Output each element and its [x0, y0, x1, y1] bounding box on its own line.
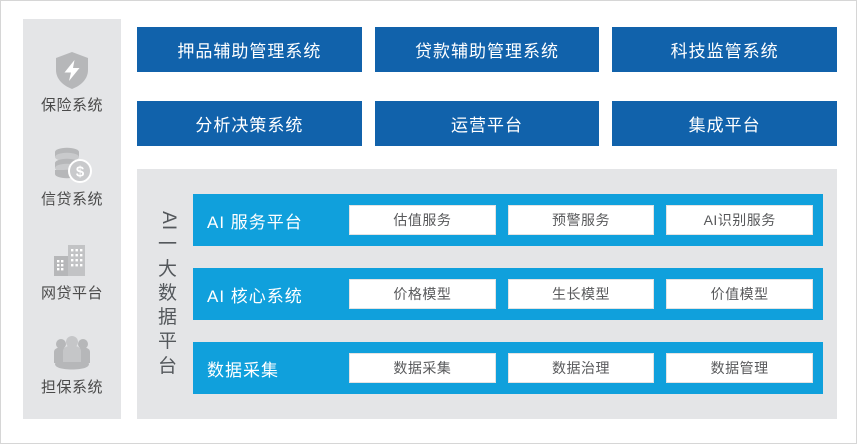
system-bar-row-1: 押品辅助管理系统 贷款辅助管理系统 科技监管系统	[137, 27, 837, 72]
sidebar-item-credit[interactable]: $ 信贷系统	[23, 127, 121, 221]
system-bar-label: 集成平台	[689, 111, 761, 136]
ai-bigdata-platform-panel: AI 一 大 数 据 平 台 AI 服务平台 估值服务 预警服务 AI识别服务 …	[137, 169, 837, 419]
svg-text:$: $	[76, 164, 85, 181]
platform-title-char: 数	[158, 282, 178, 306]
platform-title-char: 据	[158, 306, 178, 330]
platform-row-ai-service: AI 服务平台 估值服务 预警服务 AI识别服务	[193, 194, 823, 246]
platform-row-label: 数据采集	[207, 356, 349, 381]
buildings-icon	[49, 235, 95, 281]
system-bar-label: 贷款辅助管理系统	[415, 37, 559, 62]
sidebar-item-label: 信贷系统	[41, 192, 103, 207]
platform-title-char: 平	[158, 330, 178, 354]
platform-row-data-collection: 数据采集 数据采集 数据治理 数据管理	[193, 342, 823, 394]
platform-title-ai: AI	[156, 211, 180, 231]
platform-row-label: AI 核心系统	[207, 282, 349, 307]
shield-bolt-icon	[49, 47, 95, 93]
platform-cell-ai-recognition-service[interactable]: AI识别服务	[666, 205, 813, 235]
system-bar-collateral-management[interactable]: 押品辅助管理系统	[137, 27, 362, 72]
platform-row-cells: 数据采集 数据治理 数据管理	[349, 353, 813, 383]
system-bar-row-2: 分析决策系统 运营平台 集成平台	[137, 101, 837, 146]
architecture-diagram: 保险系统 $ 信贷系统	[0, 0, 857, 444]
platform-title-char: 台	[158, 355, 178, 379]
system-bar-label: 分析决策系统	[195, 111, 303, 136]
platform-rows: AI 服务平台 估值服务 预警服务 AI识别服务 AI 核心系统 价格模型 生长…	[193, 169, 837, 419]
coins-dollar-icon: $	[49, 141, 95, 187]
platform-cell-data-management[interactable]: 数据管理	[666, 353, 813, 383]
platform-cell-price-model[interactable]: 价格模型	[349, 279, 496, 309]
platform-row-cells: 估值服务 预警服务 AI识别服务	[349, 205, 813, 235]
sidebar-item-label: 担保系统	[41, 380, 103, 395]
sidebar-item-online-lending[interactable]: 网贷平台	[23, 221, 121, 315]
system-bar-tech-supervision[interactable]: 科技监管系统	[612, 27, 837, 72]
platform-cell-data-governance[interactable]: 数据治理	[508, 353, 655, 383]
sidebar-item-label: 保险系统	[41, 98, 103, 113]
platform-title-char: 一	[158, 233, 178, 257]
platform-cell-data-collection[interactable]: 数据采集	[349, 353, 496, 383]
system-bar-label: 运营平台	[451, 111, 523, 136]
platform-row-ai-core: AI 核心系统 价格模型 生长模型 价值模型	[193, 268, 823, 320]
people-group-icon	[49, 329, 95, 375]
platform-cell-value-model[interactable]: 价值模型	[666, 279, 813, 309]
platform-cell-valuation-service[interactable]: 估值服务	[349, 205, 496, 235]
sidebar: 保险系统 $ 信贷系统	[23, 19, 121, 419]
system-bar-analysis-decision[interactable]: 分析决策系统	[137, 101, 362, 146]
system-bar-label: 科技监管系统	[671, 37, 779, 62]
platform-row-cells: 价格模型 生长模型 价值模型	[349, 279, 813, 309]
system-bar-integration-platform[interactable]: 集成平台	[612, 101, 837, 146]
system-bar-loan-management[interactable]: 贷款辅助管理系统	[375, 27, 600, 72]
system-bar-label: 押品辅助管理系统	[177, 37, 321, 62]
platform-cell-alert-service[interactable]: 预警服务	[508, 205, 655, 235]
sidebar-item-guarantee[interactable]: 担保系统	[23, 315, 121, 409]
platform-cell-growth-model[interactable]: 生长模型	[508, 279, 655, 309]
platform-row-label: AI 服务平台	[207, 208, 349, 233]
platform-title-char: 大	[158, 258, 178, 282]
platform-vertical-title: AI 一 大 数 据 平 台	[137, 169, 193, 419]
system-bar-operations-platform[interactable]: 运营平台	[375, 101, 600, 146]
sidebar-item-insurance[interactable]: 保险系统	[23, 33, 121, 127]
sidebar-item-label: 网贷平台	[41, 286, 103, 301]
